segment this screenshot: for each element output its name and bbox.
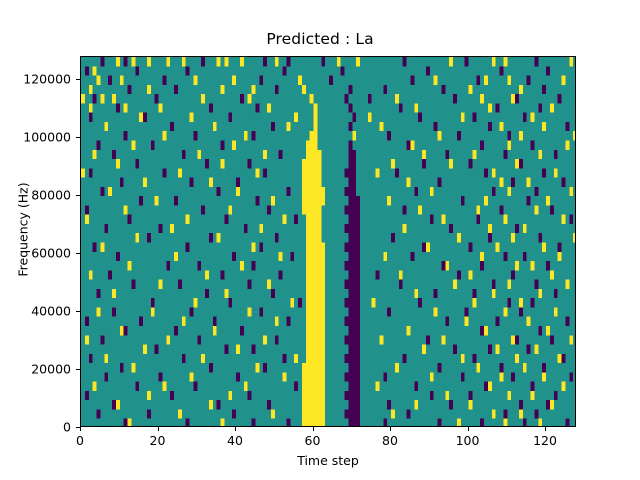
y-axis-label: Frequency (Hz) [16,105,31,355]
y-tick-label: 20000 [31,362,71,377]
x-tick-mark [468,427,469,431]
x-tick-label: 120 [533,433,557,448]
x-tick-label: 40 [227,433,243,448]
x-tick-mark [235,427,236,431]
x-tick-label: 0 [76,433,84,448]
y-tick-mark [76,311,80,312]
x-tick-mark [313,427,314,431]
x-tick-label: 20 [150,433,166,448]
x-tick-mark [545,427,546,431]
y-tick-label: 120000 [23,72,71,87]
y-tick-mark [76,369,80,370]
heatmap-axes [80,56,576,427]
y-tick-label: 60000 [31,246,71,261]
x-tick-label: 100 [456,433,480,448]
spectrogram-heatmap [81,57,576,427]
y-tick-mark [76,79,80,80]
y-tick-label: 0 [63,420,71,435]
y-tick-mark [76,253,80,254]
y-tick-label: 40000 [31,304,71,319]
x-tick-mark [158,427,159,431]
x-tick-mark [390,427,391,431]
matplotlib-figure: Predicted : La 020406080100120 020000400… [0,0,640,480]
x-tick-label: 60 [305,433,321,448]
y-tick-label: 80000 [31,188,71,203]
y-tick-mark [76,427,80,428]
x-tick-label: 80 [382,433,398,448]
chart-title: Predicted : La [0,30,640,48]
y-tick-mark [76,195,80,196]
x-axis-label: Time step [80,453,576,468]
x-tick-mark [80,427,81,431]
y-tick-mark [76,137,80,138]
